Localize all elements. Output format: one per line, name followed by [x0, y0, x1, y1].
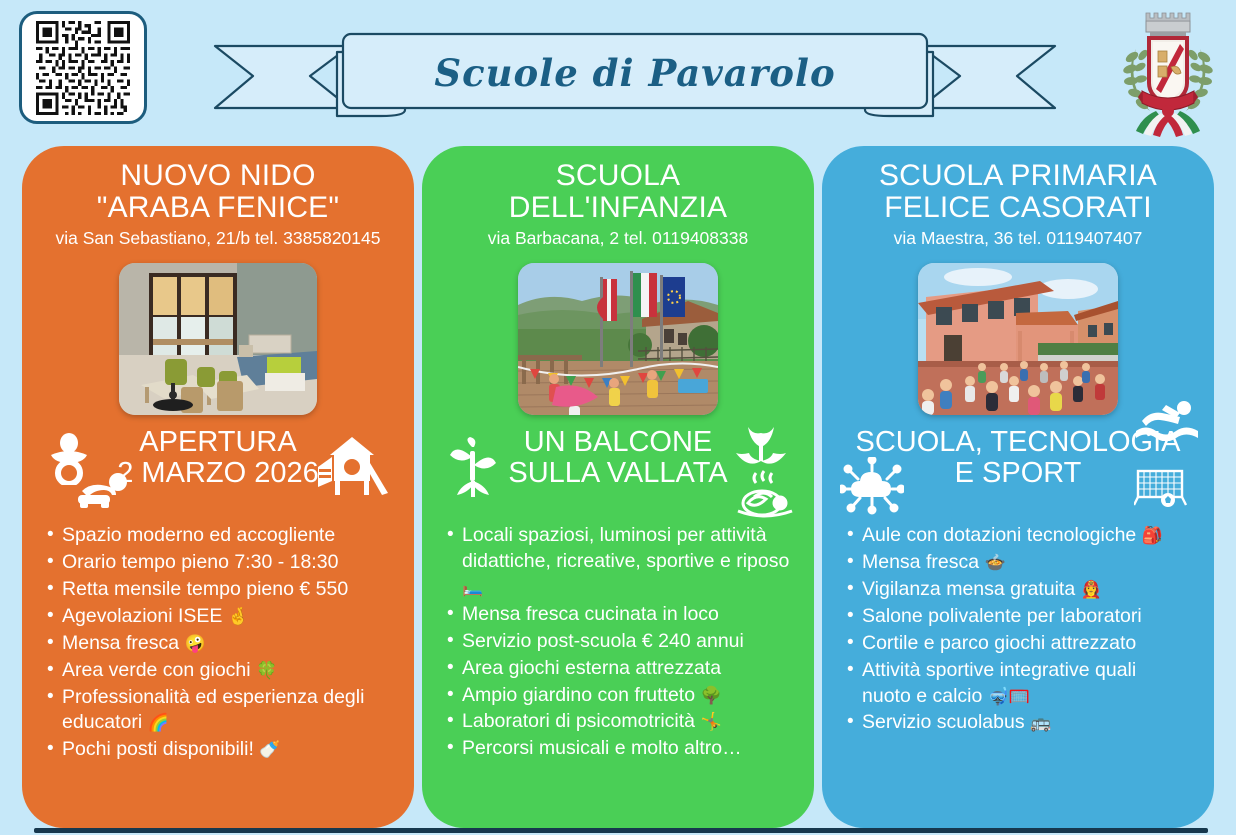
bullet-text: Area verde con giochi [62, 659, 251, 681]
bullet-emoji: 🌳 [700, 686, 721, 706]
photo-infanzia-playground [518, 263, 718, 415]
school-building-courtyard-photo [918, 263, 1118, 415]
list-item: Area verde con giochi 🍀 [46, 658, 390, 684]
list-item: Agevolazioni ISEE 🤞 [46, 604, 390, 630]
bullet-text: Locali spaziosi, luminosi per attività d… [462, 524, 789, 572]
bullet-text: Aule con dotazioni tecnologiche [862, 524, 1136, 546]
bullet-emoji: 🍲 [984, 553, 1005, 573]
headline-line1: APERTURA [139, 426, 296, 458]
bullet-text: Mensa fresca [62, 632, 179, 654]
bullet-text: Cortile e parco giochi attrezzato [862, 632, 1136, 654]
bottom-divider [34, 828, 1208, 833]
list-item: Mensa fresca 🍲 [846, 550, 1190, 576]
bullet-text: Mensa fresca cucinata in loco [462, 603, 719, 625]
headline-line2: E SPORT [840, 458, 1196, 489]
list-item: Mensa fresca cucinata in loco [446, 602, 790, 628]
list-item: Ampio giardino con frutteto 🌳 [446, 683, 790, 709]
bullet-text: Retta mensile tempo pieno € 550 [62, 578, 348, 600]
bullet-text: Area giochi esterna attrezzata [462, 657, 721, 679]
headline-block-primaria: SCUOLA, TECNOLOGIA E SPORT [832, 427, 1204, 513]
bullet-text: Agevolazioni ISEE [62, 605, 222, 627]
headline-primaria: SCUOLA, TECNOLOGIA E SPORT [832, 427, 1204, 490]
list-item: Aule con dotazioni tecnologiche 🎒 [846, 523, 1190, 549]
list-item: Percorsi musicali e molto altro… [446, 736, 790, 762]
bullet-text: Servizio scuolabus [862, 711, 1025, 733]
card-nuovo-nido[interactable]: NUOVO NIDO "ARABA FENICE" via San Sebast… [22, 146, 414, 828]
list-item: Mensa fresca 🤪 [46, 631, 390, 657]
card-scuola-primaria[interactable]: SCUOLA PRIMARIA FELICE CASORATI via Maes… [822, 146, 1214, 828]
headline-block-nido: APERTURA 2 MARZO 2026 [32, 427, 404, 513]
bullet-text: Vigilanza mensa gratuita [862, 578, 1075, 600]
list-item: Salone polivalente per laboratori [846, 604, 1190, 630]
bullet-text: Pochi posti disponibili! [62, 738, 254, 760]
title-ribbon: Scuole di Pavarolo [205, 26, 1065, 126]
playground-with-flags-photo [518, 263, 718, 415]
qr-code-frame[interactable] [19, 11, 147, 124]
card-title-primaria: SCUOLA PRIMARIA FELICE CASORATI [879, 160, 1157, 223]
bullet-text: Ampio giardino con frutteto [462, 684, 695, 706]
bullet-emoji: 👩‍🚒 [1081, 580, 1102, 600]
bullet-text: Mensa fresca [862, 551, 979, 573]
bullet-emoji: 🤿🥅 [988, 687, 1030, 707]
card-title-line2: FELICE CASORATI [879, 192, 1157, 224]
photo-nido-classroom [119, 263, 317, 415]
bullet-list-nido: Spazio moderno ed accogliente Orario tem… [32, 523, 404, 764]
card-title-infanzia: SCUOLA DELL'INFANZIA [509, 160, 727, 223]
list-item: Spazio moderno ed accogliente [46, 523, 390, 549]
bullet-emoji: 🎒 [1142, 526, 1163, 546]
list-item: Retta mensile tempo pieno € 550 [46, 577, 390, 603]
card-address-nido: via San Sebastiano, 21/b tel. 3385820145 [56, 228, 381, 249]
card-title-line1: NUOVO NIDO [120, 159, 315, 192]
bullet-emoji: 🚌 [1030, 713, 1051, 733]
card-title-line2: DELL'INFANZIA [509, 192, 727, 224]
list-item: Area giochi esterna attrezzata [446, 656, 790, 682]
list-item: Pochi posti disponibili! 🍼 [46, 737, 390, 763]
headline-line2: 2 MARZO 2026 [40, 458, 396, 489]
bullet-emoji: 🤪 [184, 634, 205, 654]
bullet-text: Orario tempo pieno 7:30 - 18:30 [62, 551, 338, 573]
poster-root: Scuole di Pavarolo [0, 0, 1236, 835]
bullet-emoji: 🍀 [256, 661, 277, 681]
bullet-emoji: 🤞 [228, 607, 249, 627]
card-title-nido: NUOVO NIDO "ARABA FENICE" [97, 160, 340, 223]
list-item: Professionalità ed esperienza degli educ… [46, 685, 390, 737]
bullet-text: Servizio post-scuola € 240 annui [462, 630, 744, 652]
list-item: Servizio scuolabus 🚌 [846, 710, 1190, 736]
bullet-text: Salone polivalente per laboratori [862, 605, 1142, 627]
list-item: Orario tempo pieno 7:30 - 18:30 [46, 550, 390, 576]
bullet-text: Percorsi musicali e molto altro… [462, 737, 742, 759]
bullet-emoji: 🛏️ [462, 578, 483, 598]
card-scuola-infanzia[interactable]: SCUOLA DELL'INFANZIA via Barbacana, 2 te… [422, 146, 814, 828]
bullet-list-infanzia: Locali spaziosi, luminosi per attività d… [432, 523, 804, 763]
bullet-text: Professionalità ed esperienza degli educ… [62, 686, 364, 734]
headline-line1: UN BALCONE [524, 426, 713, 458]
bullet-text: Laboratori di psicomotricità [462, 710, 695, 732]
bullet-emoji: 🤸 [700, 712, 721, 732]
headline-line1: SCUOLA, TECNOLOGIA [856, 426, 1181, 458]
list-item: Attività sportive integrative quali nuot… [846, 658, 1190, 710]
list-item: Cortile e parco giochi attrezzato [846, 631, 1190, 657]
list-item: Vigilanza mensa gratuita 👩‍🚒 [846, 577, 1190, 603]
qr-code-icon[interactable] [36, 21, 130, 115]
list-item: Laboratori di psicomotricità 🤸 [446, 709, 790, 735]
list-item: Locali spaziosi, luminosi per attività d… [446, 523, 790, 601]
cards-container: NUOVO NIDO "ARABA FENICE" via San Sebast… [0, 146, 1236, 828]
poster-title: Scuole di Pavarolo [205, 23, 1065, 123]
coat-of-arms [1116, 5, 1220, 137]
classroom-interior-photo [119, 263, 317, 415]
headline-nido: APERTURA 2 MARZO 2026 [32, 427, 404, 490]
bullet-text: Spazio moderno ed accogliente [62, 524, 335, 546]
bullet-emoji: 🍼 [259, 740, 280, 760]
headline-line2: SULLA VALLATA [440, 458, 796, 489]
card-title-line2: "ARABA FENICE" [97, 192, 340, 224]
coat-of-arms-icon [1116, 5, 1220, 137]
card-title-line1: SCUOLA [556, 159, 681, 192]
bullet-emoji: 🌈 [148, 713, 169, 733]
bullet-list-primaria: Aule con dotazioni tecnologiche 🎒 Mensa … [832, 523, 1204, 737]
headline-infanzia: UN BALCONE SULLA VALLATA [432, 427, 804, 490]
headline-block-infanzia: UN BALCONE SULLA VALLATA [432, 427, 804, 513]
poster-header: Scuole di Pavarolo [0, 0, 1236, 140]
card-address-primaria: via Maestra, 36 tel. 0119407407 [894, 228, 1143, 249]
card-title-line1: SCUOLA PRIMARIA [879, 159, 1157, 192]
photo-primaria-school [918, 263, 1118, 415]
list-item: Servizio post-scuola € 240 annui [446, 629, 790, 655]
card-address-infanzia: via Barbacana, 2 tel. 0119408338 [488, 228, 748, 249]
